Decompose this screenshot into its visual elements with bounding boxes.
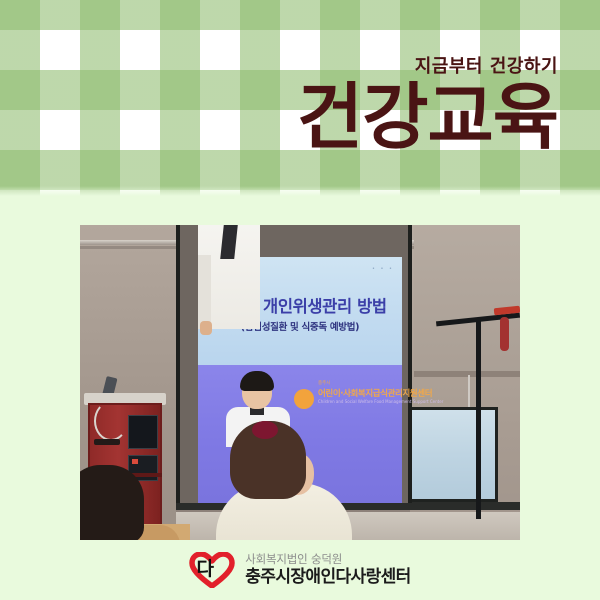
standing-presenter-arm xyxy=(198,255,211,329)
poster-footer: 다 사회복지법인 숭덕원 충주시장애인다사랑센터 xyxy=(0,540,600,600)
header-text-block: 지금부터 건강하기 건강교육 xyxy=(297,58,558,153)
slide-org-name-en: Children and Social Welfare Food Managem… xyxy=(318,399,443,404)
smiley-logo-icon xyxy=(294,389,314,409)
footer-parent-org: 사회복지법인 숭덕원 xyxy=(245,553,410,566)
slide-org-prefix: 충주시 xyxy=(318,380,330,386)
av-rack-cable xyxy=(94,401,128,441)
slide-presenter-hair xyxy=(240,371,274,391)
standing-presenter-hand xyxy=(200,321,212,335)
footer-center-name: 충주시장애인다사랑센터 xyxy=(245,568,410,588)
window-blind-cord xyxy=(468,375,470,407)
slide-org-name: 어린이·사회복지급식관리지원센터 xyxy=(318,387,432,399)
window-blind-bar xyxy=(414,371,520,377)
mic-stand-pole xyxy=(476,319,481,519)
slide-dots-icon: • • • xyxy=(372,266,394,272)
poster-canvas: 지금부터 건강하기 건강교육 개인 교육자료 • • • 올바른 개인위생관리 … xyxy=(0,0,600,600)
footer-text-block: 사회복지법인 숭덕원 충주시장애인다사랑센터 xyxy=(245,553,410,588)
window-blind xyxy=(414,225,520,375)
audience-member-hair xyxy=(80,465,144,540)
poster-header: 지금부터 건강하기 건강교육 xyxy=(0,0,600,196)
event-photo: 개인 교육자료 • • • 올바른 개인위생관리 방법 (감염성질환 및 식중독… xyxy=(80,225,520,540)
center-logo: 다 xyxy=(189,552,235,588)
header-fade-divider xyxy=(0,186,600,196)
av-rack-panel xyxy=(128,415,158,449)
av-rack-led-icon xyxy=(132,459,138,464)
classroom-window xyxy=(398,407,498,502)
logo-character: 다 xyxy=(194,558,216,581)
audience-member-hair-tie xyxy=(252,421,278,439)
page-title: 건강교육 xyxy=(297,82,558,153)
av-rack-handle xyxy=(94,439,120,445)
mic-stand-clamp xyxy=(500,317,509,351)
header-eyebrow: 지금부터 건강하기 xyxy=(297,58,558,76)
